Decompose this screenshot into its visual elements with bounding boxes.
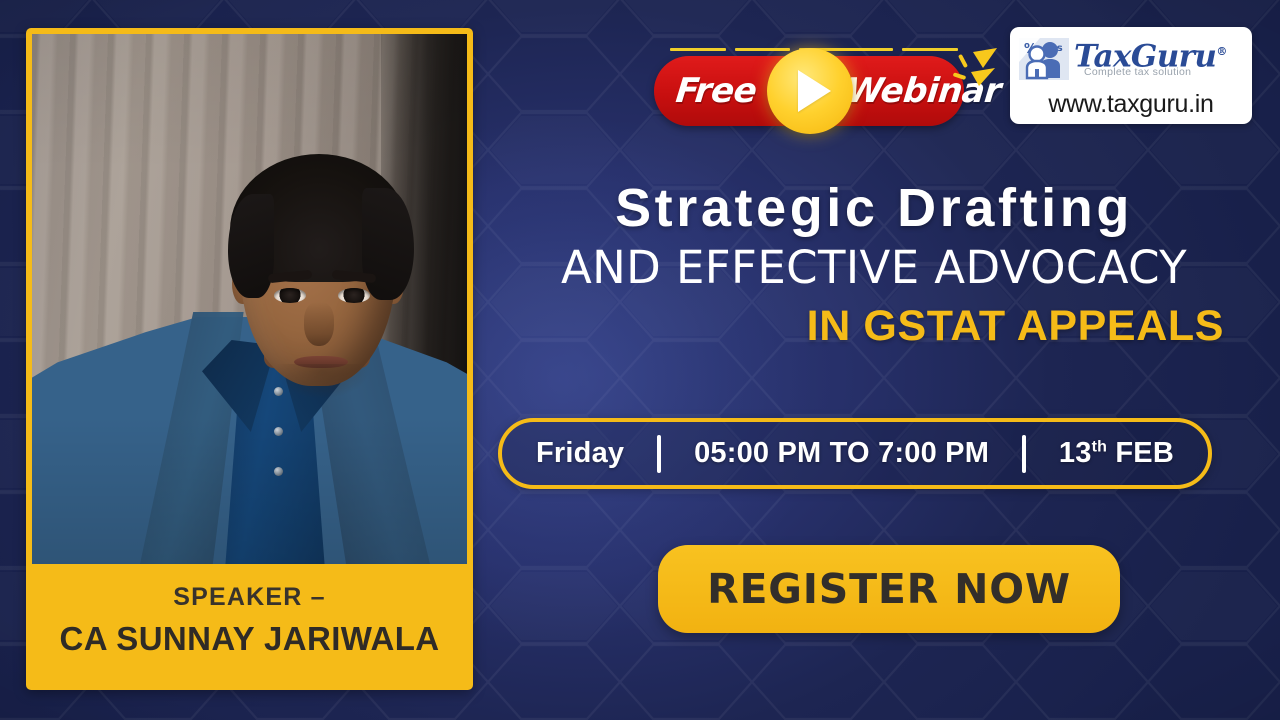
register-now-button[interactable]: REGISTER NOW bbox=[658, 545, 1120, 633]
logo-top-row: % Rs TaxGuru® Complete tax solution bbox=[1018, 33, 1244, 85]
photo-color-grade bbox=[32, 34, 467, 564]
schedule-bar: Friday 05:00 PM TO 7:00 PM 13th FEB bbox=[498, 418, 1212, 489]
headline-line-3: IN GSTAT APPEALS bbox=[524, 302, 1224, 350]
schedule-day: Friday bbox=[536, 437, 624, 470]
free-webinar-badge: Free Webinar bbox=[654, 48, 974, 134]
headline-line-1: Strategic Drafting bbox=[524, 178, 1224, 238]
registered-mark: ® bbox=[1216, 45, 1226, 58]
spark-burst-icon bbox=[939, 46, 1001, 108]
website-url[interactable]: www.taxguru.in bbox=[1018, 85, 1244, 123]
schedule-date: 13th FEB bbox=[1059, 437, 1174, 470]
speaker-photo bbox=[32, 34, 467, 564]
taxguru-people-icon: % Rs bbox=[1018, 36, 1070, 82]
register-button-label: REGISTER NOW bbox=[707, 565, 1071, 613]
webinar-banner: SPEAKER – CA SUNNAY JARIWALA Free Webina… bbox=[0, 0, 1280, 720]
badge-word-free: Free bbox=[674, 71, 759, 111]
play-triangle-icon bbox=[798, 70, 831, 112]
headline-line-2: AND EFFECTIVE ADVOCACY bbox=[524, 243, 1224, 293]
speaker-card: SPEAKER – CA SUNNAY JARIWALA bbox=[26, 28, 473, 690]
schedule-divider bbox=[657, 435, 661, 473]
speaker-role-label: SPEAKER – bbox=[173, 583, 326, 612]
logo-wordmark: TaxGuru® Complete tax solution bbox=[1074, 35, 1244, 83]
speaker-info: SPEAKER – CA SUNNAY JARIWALA bbox=[26, 568, 473, 690]
logo-tagline: Complete tax solution bbox=[1084, 66, 1191, 78]
date-suffix: th bbox=[1092, 438, 1108, 455]
schedule-time: 05:00 PM TO 7:00 PM bbox=[694, 437, 989, 470]
play-icon[interactable] bbox=[767, 48, 853, 134]
headline-block: Strategic Drafting AND EFFECTIVE ADVOCAC… bbox=[524, 178, 1224, 350]
schedule-divider bbox=[1022, 435, 1026, 473]
taxguru-logo[interactable]: % Rs TaxGuru® Complete tax solution www.… bbox=[1010, 27, 1252, 124]
speaker-name: CA SUNNAY JARIWALA bbox=[59, 620, 439, 658]
